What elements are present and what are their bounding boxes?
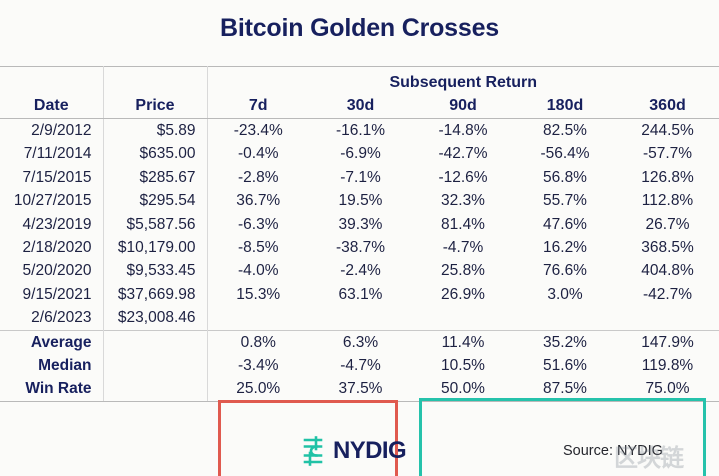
cell-return-d30: -16.1% bbox=[309, 119, 412, 143]
summary-d180: 35.2% bbox=[514, 330, 616, 354]
table-row: 2/9/2012$5.89-23.4%-16.1%-14.8%82.5%244.… bbox=[0, 119, 719, 143]
cell-price: $295.54 bbox=[103, 189, 207, 212]
cell-return-d30: 63.1% bbox=[309, 283, 412, 306]
summary-row: Average0.8%6.3%11.4%35.2%147.9% bbox=[0, 330, 719, 354]
cell-return-d90: 32.3% bbox=[412, 189, 514, 212]
cell-return-d30: -2.4% bbox=[309, 259, 412, 282]
cell-return-d180: 56.8% bbox=[514, 166, 616, 189]
cell-return-d7 bbox=[207, 306, 309, 330]
cell-return-d360: 244.5% bbox=[616, 119, 719, 143]
column-header-30d[interactable]: 30d bbox=[309, 93, 412, 119]
group-header-spacer-price bbox=[103, 67, 207, 93]
cell-return-d360: 26.7% bbox=[616, 213, 719, 236]
cell-return-d360: 112.8% bbox=[616, 189, 719, 212]
cell-return-d90: 26.9% bbox=[412, 283, 514, 306]
cell-return-d360: 404.8% bbox=[616, 259, 719, 282]
cell-return-d30: -6.9% bbox=[309, 142, 412, 165]
column-header-360d[interactable]: 360d bbox=[616, 93, 719, 119]
column-header-90d[interactable]: 90d bbox=[412, 93, 514, 119]
cell-price: $23,008.46 bbox=[103, 306, 207, 330]
summary-d30: -4.7% bbox=[309, 354, 412, 377]
cell-return-d7: -8.5% bbox=[207, 236, 309, 259]
summary-label: Win Rate bbox=[0, 377, 103, 401]
cell-date: 2/9/2012 bbox=[0, 119, 103, 143]
cell-return-d360: 126.8% bbox=[616, 166, 719, 189]
cell-price: $5.89 bbox=[103, 119, 207, 143]
cell-return-d90: 81.4% bbox=[412, 213, 514, 236]
cell-return-d7: -0.4% bbox=[207, 142, 309, 165]
summary-d30: 37.5% bbox=[309, 377, 412, 401]
cell-return-d30: 39.3% bbox=[309, 213, 412, 236]
summary-d7: 25.0% bbox=[207, 377, 309, 401]
column-header-date[interactable]: Date bbox=[0, 93, 103, 119]
cell-return-d360 bbox=[616, 306, 719, 330]
group-header-spacer-date bbox=[0, 67, 103, 93]
summary-row: Median-3.4%-4.7%10.5%51.6%119.8% bbox=[0, 354, 719, 377]
column-header-price[interactable]: Price bbox=[103, 93, 207, 119]
golden-crosses-table: Subsequent Return Date Price 7d 30d 90d … bbox=[0, 66, 719, 402]
cell-date: 7/15/2015 bbox=[0, 166, 103, 189]
footer: NYDIG Source: NYDIG bbox=[0, 434, 719, 476]
table-row: 2/6/2023$23,008.46 bbox=[0, 306, 719, 330]
cell-price: $37,669.98 bbox=[103, 283, 207, 306]
cell-return-d30: 19.5% bbox=[309, 189, 412, 212]
column-header-row: Date Price 7d 30d 90d 180d 360d bbox=[0, 93, 719, 119]
cell-return-d180 bbox=[514, 306, 616, 330]
cell-date: 4/23/2019 bbox=[0, 213, 103, 236]
summary-d180: 51.6% bbox=[514, 354, 616, 377]
summary-d30: 6.3% bbox=[309, 330, 412, 354]
cell-return-d180: 82.5% bbox=[514, 119, 616, 143]
summary-d360: 119.8% bbox=[616, 354, 719, 377]
cell-price: $5,587.56 bbox=[103, 213, 207, 236]
table-row: 5/20/2020$9,533.45-4.0%-2.4%25.8%76.6%40… bbox=[0, 259, 719, 282]
summary-price-blank bbox=[103, 377, 207, 401]
table-row: 7/15/2015$285.67-2.8%-7.1%-12.6%56.8%126… bbox=[0, 166, 719, 189]
cell-return-d90: -42.7% bbox=[412, 142, 514, 165]
cell-return-d7: -4.0% bbox=[207, 259, 309, 282]
source-note: Source: NYDIG bbox=[563, 443, 663, 459]
table-header: Subsequent Return Date Price 7d 30d 90d … bbox=[0, 67, 719, 119]
cell-price: $10,179.00 bbox=[103, 236, 207, 259]
cell-return-d90: -14.8% bbox=[412, 119, 514, 143]
cell-return-d360: -42.7% bbox=[616, 283, 719, 306]
summary-d90: 11.4% bbox=[412, 330, 514, 354]
cell-return-d90: -4.7% bbox=[412, 236, 514, 259]
cell-return-d180: 76.6% bbox=[514, 259, 616, 282]
page-title: Bitcoin Golden Crosses bbox=[0, 0, 719, 48]
summary-label: Average bbox=[0, 330, 103, 354]
brand-name: NYDIG bbox=[333, 436, 406, 466]
cell-date: 5/20/2020 bbox=[0, 259, 103, 282]
table-row: 7/11/2014$635.00-0.4%-6.9%-42.7%-56.4%-5… bbox=[0, 142, 719, 165]
cell-return-d30: -7.1% bbox=[309, 166, 412, 189]
table-row: 9/15/2021$37,669.9815.3%63.1%26.9%3.0%-4… bbox=[0, 283, 719, 306]
summary-d360: 75.0% bbox=[616, 377, 719, 401]
column-header-180d[interactable]: 180d bbox=[514, 93, 616, 119]
summary-d180: 87.5% bbox=[514, 377, 616, 401]
cell-price: $9,533.45 bbox=[103, 259, 207, 282]
cell-date: 2/6/2023 bbox=[0, 306, 103, 330]
cell-return-d7: -23.4% bbox=[207, 119, 309, 143]
cell-price: $285.67 bbox=[103, 166, 207, 189]
cell-return-d180: 47.6% bbox=[514, 213, 616, 236]
cell-date: 9/15/2021 bbox=[0, 283, 103, 306]
cell-return-d360: -57.7% bbox=[616, 142, 719, 165]
cell-return-d360: 368.5% bbox=[616, 236, 719, 259]
cell-return-d7: 36.7% bbox=[207, 189, 309, 212]
cell-return-d30 bbox=[309, 306, 412, 330]
summary-d90: 10.5% bbox=[412, 354, 514, 377]
brand-logo: NYDIG bbox=[300, 436, 406, 466]
cell-return-d180: 55.7% bbox=[514, 189, 616, 212]
cell-return-d90: -12.6% bbox=[412, 166, 514, 189]
summary-d360: 147.9% bbox=[616, 330, 719, 354]
cell-return-d180: 3.0% bbox=[514, 283, 616, 306]
cell-return-d7: 15.3% bbox=[207, 283, 309, 306]
summary-row: Win Rate25.0%37.5%50.0%87.5%75.0% bbox=[0, 377, 719, 401]
cell-return-d180: 16.2% bbox=[514, 236, 616, 259]
cell-date: 2/18/2020 bbox=[0, 236, 103, 259]
summary-price-blank bbox=[103, 354, 207, 377]
table-row: 4/23/2019$5,587.56-6.3%39.3%81.4%47.6%26… bbox=[0, 213, 719, 236]
column-header-7d[interactable]: 7d bbox=[207, 93, 309, 119]
cell-date: 7/11/2014 bbox=[0, 142, 103, 165]
nydig-logo-icon bbox=[300, 436, 326, 466]
summary-label: Median bbox=[0, 354, 103, 377]
group-header-subsequent-return: Subsequent Return bbox=[207, 67, 719, 93]
cell-return-d7: -6.3% bbox=[207, 213, 309, 236]
cell-return-d30: -38.7% bbox=[309, 236, 412, 259]
summary-d7: 0.8% bbox=[207, 330, 309, 354]
cell-return-d90 bbox=[412, 306, 514, 330]
returns-table-container: Subsequent Return Date Price 7d 30d 90d … bbox=[0, 66, 719, 431]
table-row: 2/18/2020$10,179.00-8.5%-38.7%-4.7%16.2%… bbox=[0, 236, 719, 259]
summary-d90: 50.0% bbox=[412, 377, 514, 401]
cell-price: $635.00 bbox=[103, 142, 207, 165]
cell-date: 10/27/2015 bbox=[0, 189, 103, 212]
table-body: 2/9/2012$5.89-23.4%-16.1%-14.8%82.5%244.… bbox=[0, 119, 719, 402]
summary-price-blank bbox=[103, 330, 207, 354]
cell-return-d7: -2.8% bbox=[207, 166, 309, 189]
summary-d7: -3.4% bbox=[207, 354, 309, 377]
group-header-row: Subsequent Return bbox=[0, 67, 719, 93]
table-row: 10/27/2015$295.5436.7%19.5%32.3%55.7%112… bbox=[0, 189, 719, 212]
cell-return-d180: -56.4% bbox=[514, 142, 616, 165]
cell-return-d90: 25.8% bbox=[412, 259, 514, 282]
